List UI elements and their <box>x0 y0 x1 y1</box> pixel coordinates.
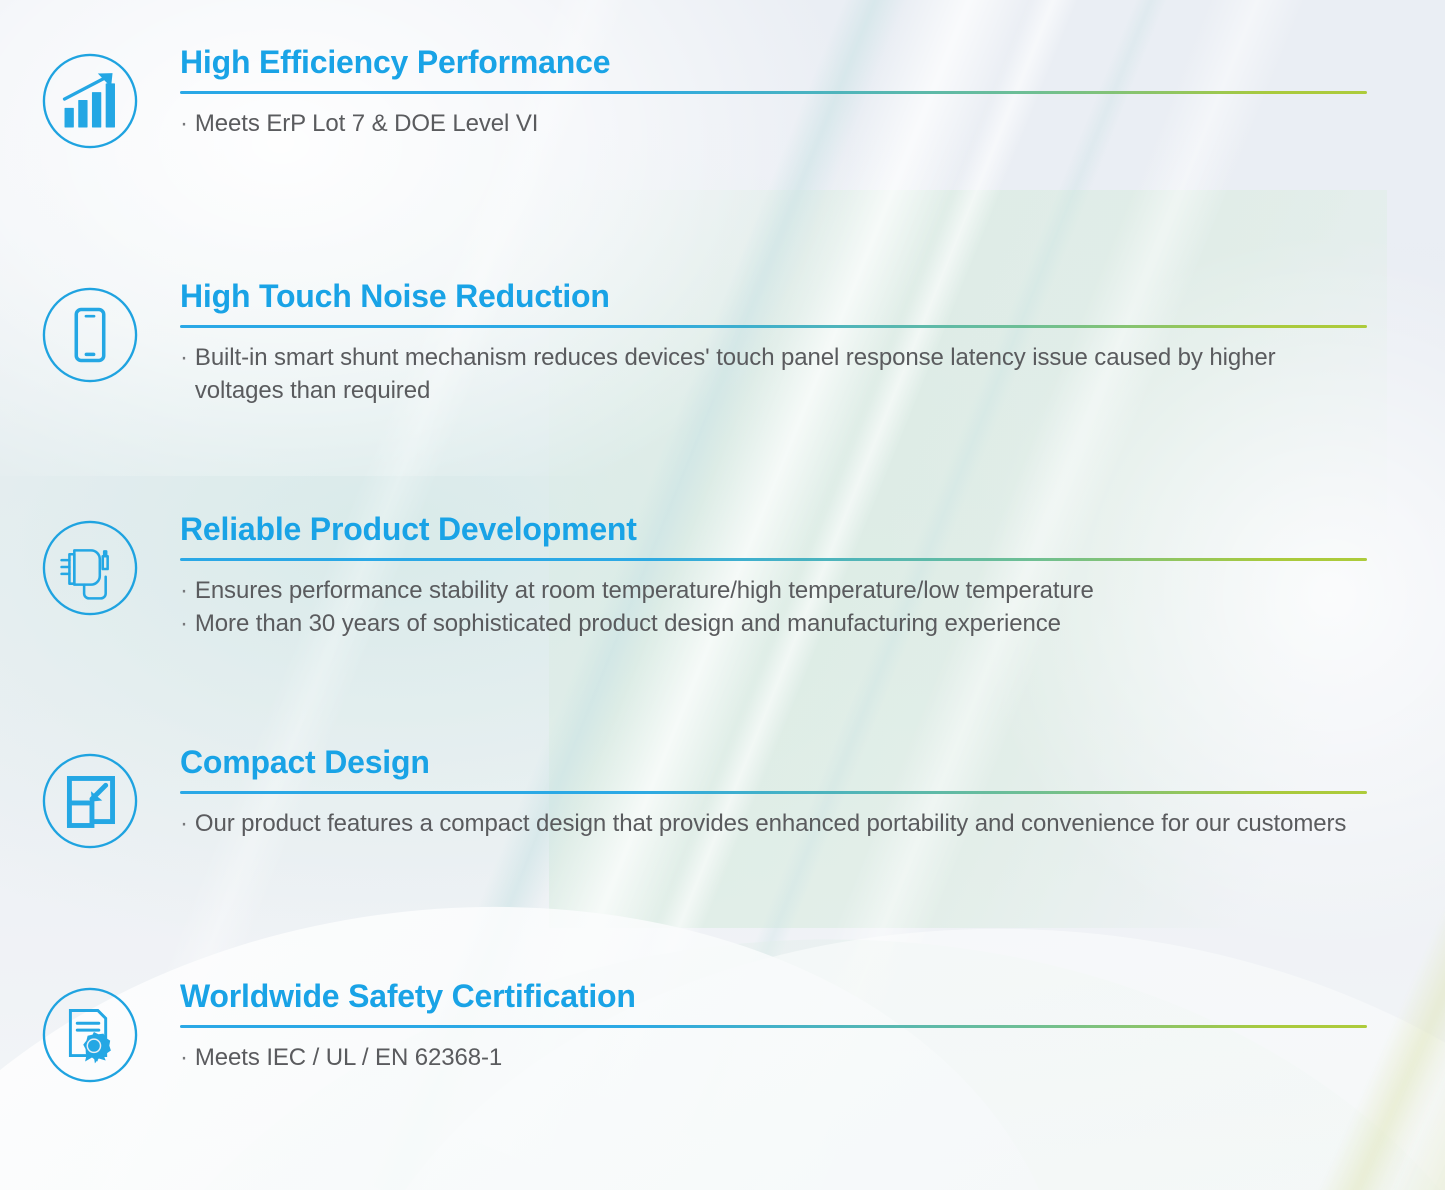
feature-divider <box>180 1025 1367 1028</box>
compact-resize-icon <box>41 752 139 850</box>
feature-icon-wrap <box>0 980 180 1084</box>
feature-title: High Efficiency Performance <box>180 46 1367 80</box>
feature-body: High Touch Noise Reduction · Built-in sm… <box>180 280 1445 407</box>
feature-item-worldwide-safety-certification: Worldwide Safety Certification · Meets I… <box>0 980 1445 1084</box>
feature-item-compact-design: Compact Design · Our product features a … <box>0 746 1445 850</box>
feature-bullets: · Meets IEC / UL / EN 62368-1 <box>180 1041 1367 1074</box>
feature-list: High Efficiency Performance · Meets ErP … <box>0 0 1445 1190</box>
feature-title: Reliable Product Development <box>180 513 1367 547</box>
bullet-item: · Built-in smart shunt mechanism reduces… <box>180 341 1367 407</box>
certificate-seal-icon <box>41 986 139 1084</box>
feature-divider <box>180 91 1367 94</box>
feature-item-high-efficiency-performance: High Efficiency Performance · Meets ErP … <box>0 46 1445 150</box>
feature-icon-wrap <box>0 513 180 617</box>
bullet-item: · Meets ErP Lot 7 & DOE Level VI <box>180 107 1367 140</box>
feature-item-reliable-product-development: Reliable Product Development · Ensures p… <box>0 513 1445 640</box>
feature-list-page: High Efficiency Performance · Meets ErP … <box>0 0 1445 1190</box>
feature-body: Worldwide Safety Certification · Meets I… <box>180 980 1445 1074</box>
feature-body: Reliable Product Development · Ensures p… <box>180 513 1445 640</box>
bar-chart-growth-icon <box>41 52 139 150</box>
bullet-marker: · <box>180 341 188 374</box>
feature-bullets: · Meets ErP Lot 7 & DOE Level VI <box>180 107 1367 140</box>
feature-title: Worldwide Safety Certification <box>180 980 1367 1014</box>
feature-body: High Efficiency Performance · Meets ErP … <box>180 46 1445 140</box>
bullet-marker: · <box>180 607 188 640</box>
feature-icon-wrap <box>0 280 180 384</box>
bullet-item: · More than 30 years of sophisticated pr… <box>180 607 1367 640</box>
feature-divider <box>180 558 1367 561</box>
bullet-marker: · <box>180 107 188 140</box>
feature-bullets: · Built-in smart shunt mechanism reduces… <box>180 341 1367 407</box>
feature-item-high-touch-noise-reduction: High Touch Noise Reduction · Built-in sm… <box>0 280 1445 407</box>
bullet-marker: · <box>180 1041 188 1074</box>
bullet-marker: · <box>180 574 188 607</box>
power-adapter-icon <box>41 519 139 617</box>
bullet-item: · Ensures performance stability at room … <box>180 574 1367 607</box>
feature-bullets: · Our product features a compact design … <box>180 807 1367 840</box>
bullet-text: Meets IEC / UL / EN 62368-1 <box>195 1041 1367 1074</box>
feature-divider <box>180 325 1367 328</box>
bullet-text: Built-in smart shunt mechanism reduces d… <box>195 341 1367 407</box>
feature-icon-wrap <box>0 746 180 850</box>
bullet-text: Ensures performance stability at room te… <box>195 574 1367 607</box>
feature-title: High Touch Noise Reduction <box>180 280 1367 314</box>
feature-title: Compact Design <box>180 746 1367 780</box>
bullet-text: Our product features a compact design th… <box>195 807 1367 840</box>
bullet-marker: · <box>180 807 188 840</box>
bullet-text: Meets ErP Lot 7 & DOE Level VI <box>195 107 1367 140</box>
bullet-item: · Our product features a compact design … <box>180 807 1367 840</box>
bullet-item: · Meets IEC / UL / EN 62368-1 <box>180 1041 1367 1074</box>
feature-icon-wrap <box>0 46 180 150</box>
feature-divider <box>180 791 1367 794</box>
feature-bullets: · Ensures performance stability at room … <box>180 574 1367 640</box>
feature-body: Compact Design · Our product features a … <box>180 746 1445 840</box>
bullet-text: More than 30 years of sophisticated prod… <box>195 607 1367 640</box>
smartphone-icon <box>41 286 139 384</box>
